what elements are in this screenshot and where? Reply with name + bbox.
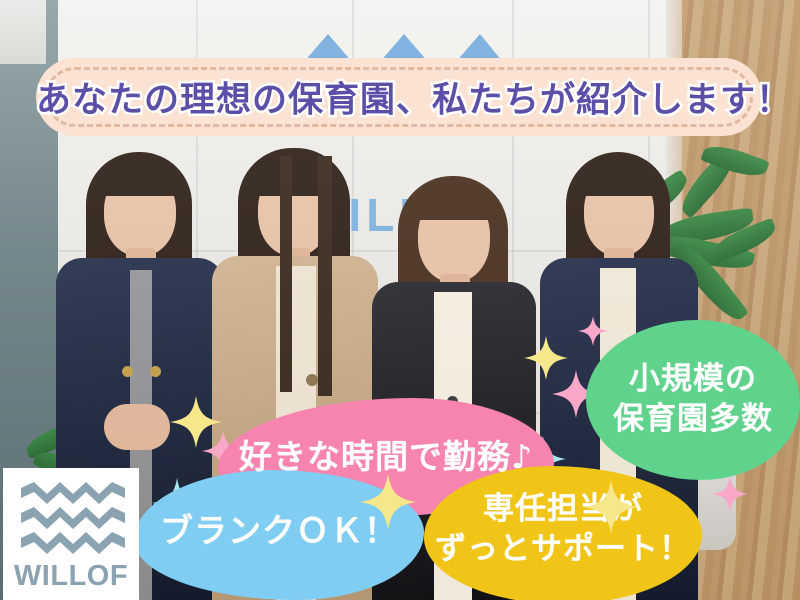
bubble-text-green: 小規模の 保育園多数 xyxy=(613,360,773,439)
advertisement-banner: WILLOF xyxy=(0,0,800,600)
bubble-text-yellow: 専任担当が ずっとサポート！ xyxy=(435,490,691,579)
sparkle-icon xyxy=(712,476,748,512)
willof-zigzag-icon xyxy=(21,482,125,554)
speech-bubble-dedicated-support: 専任担当が ずっとサポート！ xyxy=(424,466,702,600)
willof-logo: WILLOF xyxy=(3,468,139,600)
speech-bubble-small-nurseries: 小規模の 保育園多数 xyxy=(586,320,800,480)
bubble-text-pink: 好きな時間で勤務♪ xyxy=(239,436,533,478)
headline-banner: あなたの理想の保育園、私たちが紹介します！ xyxy=(36,58,762,136)
sparkle-icon xyxy=(584,480,638,534)
willof-wordmark: WILLOF xyxy=(3,560,139,593)
headline-text: あなたの理想の保育園、私たちが紹介します！ xyxy=(36,72,762,123)
sparkle-icon xyxy=(360,474,416,530)
